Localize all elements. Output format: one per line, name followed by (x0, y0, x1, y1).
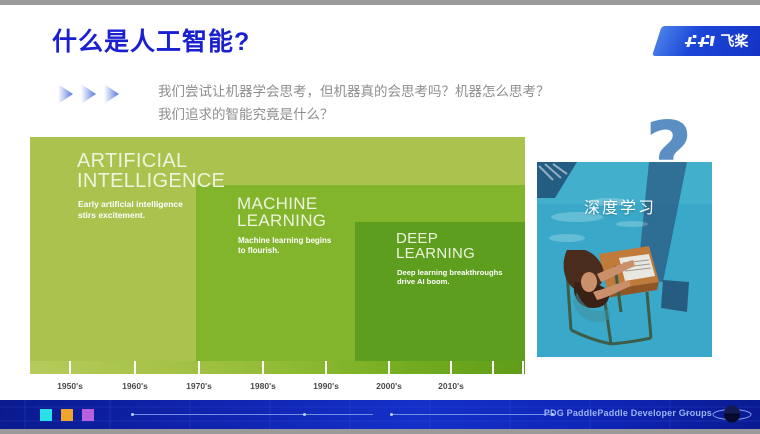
footer-connector-line (133, 414, 373, 415)
slide-canvas: 什么是人工智能? 飞桨 (0, 0, 760, 434)
footer-text: PDG PaddlePaddle Developer Groups (544, 408, 712, 418)
dl-subtitle: Deep learning breakthroughs drive AI boo… (397, 268, 525, 287)
ai-ml-dl-infographic: ARTIFICIAL INTELLIGENCE Early artificial… (30, 137, 525, 362)
timeline-label: 1980's (250, 381, 276, 391)
chevron-right-icon (103, 82, 121, 106)
ml-subtitle-line2: to flourish. (238, 246, 279, 255)
timeline-tick (69, 361, 71, 381)
footer-square-orange (61, 409, 73, 421)
ml-subtitle: Machine learning begins to flourish. (238, 236, 368, 256)
footer-strip: + + PDG PaddlePaddle Developer Groups (0, 400, 760, 429)
ml-heading-line2: LEARNING (237, 212, 326, 229)
ai-heading: ARTIFICIAL INTELLIGENCE (77, 151, 225, 192)
timeline-label: 1950's (57, 381, 83, 391)
window-top-edge (0, 0, 760, 5)
dl-subtitle-line2: drive AI boom. (397, 277, 449, 286)
dl-heading: DEEP LEARNING (396, 231, 475, 262)
paddlepaddle-logo-icon (683, 33, 717, 49)
body-line-1: 我们尝试让机器学会思考，但机器真的会思考吗？机器怎么思考？ (158, 80, 588, 103)
ai-subtitle-line1: Early artificial intelligence (78, 199, 183, 209)
ai-subtitle-line2: stirs excitement. (78, 210, 145, 220)
brand-logo-inner: 飞桨 (657, 26, 760, 56)
brand-logo-text: 飞桨 (720, 34, 748, 48)
chevron-right-icon (57, 82, 75, 106)
footer-line-dot (390, 413, 393, 416)
ai-heading-line2: INTELLIGENCE (77, 171, 225, 191)
footer-line-dot (303, 413, 306, 416)
timeline-tick (262, 361, 264, 381)
pool-photo-illustration (537, 162, 712, 357)
timeline-tick (450, 361, 452, 381)
paddlepaddle-brand-logo[interactable]: 飞桨 (652, 26, 760, 56)
timeline-tick (325, 361, 327, 381)
window-bottom-edge (0, 429, 760, 434)
timeline-label: 1990's (313, 381, 339, 391)
timeline-label: 1970's (186, 381, 212, 391)
chevron-right-icon (80, 82, 98, 106)
pdg-circle-logo-icon (712, 405, 752, 424)
timeline-label: 1960's (122, 381, 148, 391)
dl-heading-line2: LEARNING (396, 246, 475, 261)
timeline-tick (388, 361, 390, 381)
page-title: 什么是人工智能? (52, 22, 250, 58)
swimming-pool-photo (537, 162, 712, 357)
ml-heading-line1: MACHINE (237, 194, 318, 213)
dl-subtitle-line1: Deep learning breakthroughs (397, 268, 503, 277)
timeline-tick (522, 361, 524, 381)
footer-square-cyan (40, 409, 52, 421)
footer-connector-line (392, 414, 552, 415)
body-text: 我们尝试让机器学会思考，但机器真的会思考吗？机器怎么思考？ 我们追求的智能究竟是… (158, 80, 588, 126)
ai-subtitle: Early artificial intelligence stirs exci… (78, 199, 228, 220)
timeline-tick (198, 361, 200, 381)
ai-heading-line1: ARTIFICIAL (77, 150, 187, 172)
timeline-tick (492, 361, 494, 381)
ml-subtitle-line1: Machine learning begins (238, 236, 331, 245)
body-line-2: 我们追求的智能究竟是什么？ (158, 103, 588, 126)
footer-line-dot (131, 413, 134, 416)
timeline-label: 2010's (438, 381, 464, 391)
footer-square-purple (82, 409, 94, 421)
timeline-tick (134, 361, 136, 381)
photo-overlay-label: 深度学习 (584, 194, 656, 218)
ml-heading: MACHINE LEARNING (237, 195, 326, 230)
bullet-chevrons (57, 82, 121, 106)
timeline-label: 2000's (376, 381, 402, 391)
